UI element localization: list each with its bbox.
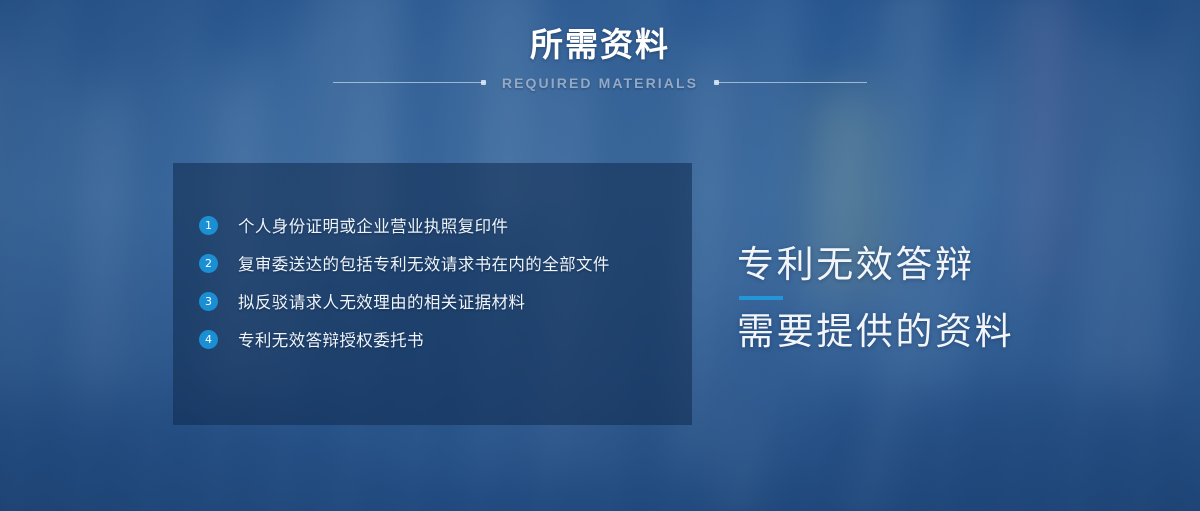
- headline-divider: [739, 296, 783, 300]
- headline-line-2: 需要提供的资料: [737, 311, 1014, 354]
- page-title: 所需资料: [0, 26, 1200, 64]
- list-item-label: 专利无效答辩授权委托书: [238, 327, 424, 351]
- list-item: 1 个人身份证明或企业营业执照复印件: [199, 213, 680, 237]
- list-item-label: 拟反驳请求人无效理由的相关证据材料: [238, 289, 525, 313]
- list-number-badge: 4: [199, 330, 218, 349]
- headline-line-1: 专利无效答辩: [737, 244, 1014, 287]
- list-item-label: 个人身份证明或企业营业执照复印件: [238, 213, 508, 237]
- list-item: 3 拟反驳请求人无效理由的相关证据材料: [199, 289, 680, 313]
- headline-block: 专利无效答辩 需要提供的资料: [737, 244, 1014, 354]
- list-number-badge: 1: [199, 216, 218, 235]
- page-subtitle: REQUIRED MATERIALS: [485, 75, 715, 91]
- header: 所需资料 REQUIRED MATERIALS: [0, 26, 1200, 91]
- list-item: 2 复审委送达的包括专利无效请求书在内的全部文件: [199, 251, 680, 275]
- header-rule-right: [715, 82, 867, 83]
- list-number-badge: 3: [199, 292, 218, 311]
- materials-list: 1 个人身份证明或企业营业执照复印件 2 复审委送达的包括专利无效请求书在内的全…: [199, 213, 680, 351]
- materials-panel: 1 个人身份证明或企业营业执照复印件 2 复审委送达的包括专利无效请求书在内的全…: [173, 163, 692, 425]
- header-rule-left: [333, 82, 485, 83]
- required-materials-banner: 所需资料 REQUIRED MATERIALS 1 个人身份证明或企业营业执照复…: [0, 0, 1200, 511]
- list-item: 4 专利无效答辩授权委托书: [199, 327, 680, 351]
- list-number-badge: 2: [199, 254, 218, 273]
- subtitle-row: REQUIRED MATERIALS: [0, 75, 1200, 91]
- list-item-label: 复审委送达的包括专利无效请求书在内的全部文件: [238, 251, 610, 275]
